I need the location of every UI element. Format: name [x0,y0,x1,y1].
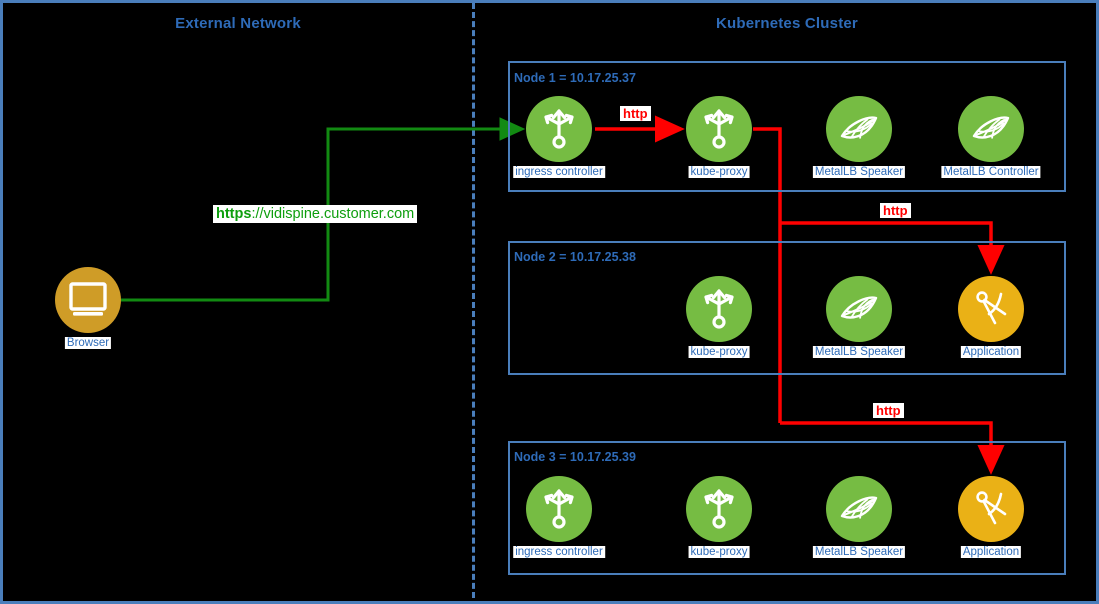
pod-disc [826,96,892,162]
pod-disc [526,476,592,542]
trident-icon [539,487,579,531]
diagram-canvas: External Network Kubernetes Cluster [0,0,1099,604]
pod-label: MetalLB Controller [941,166,1040,178]
pod-metallb-speaker-node3[interactable]: MetalLB Speaker [826,476,892,542]
pod-disc [958,96,1024,162]
monitor-icon [68,282,108,318]
browser-node[interactable]: Browser [55,267,121,333]
trident-icon [539,107,579,151]
pod-kube-proxy-node1[interactable]: kube-proxy [686,96,752,162]
pod-disc [686,276,752,342]
pod-label: kube-proxy [689,546,750,558]
node-2-label: Node 2 = 10.17.25.38 [512,250,638,264]
net-sail-icon [837,109,881,149]
trident-icon [699,107,739,151]
pod-disc [526,96,592,162]
net-sail-icon [837,489,881,529]
compass-icon [971,288,1011,330]
http-label-2: http [880,203,911,218]
pod-application-node2[interactable]: Application [958,276,1024,342]
url-scheme: https [216,206,251,222]
pod-label: kube-proxy [689,166,750,178]
kubernetes-cluster-title: Kubernetes Cluster [475,15,1099,32]
net-sail-icon [837,289,881,329]
network-boundary-divider [472,3,475,604]
pod-ingress-controller-node3[interactable]: ingress controller [526,476,592,542]
pod-disc [686,476,752,542]
https-url-label: https://vidispine.customer.com [213,205,417,223]
pod-disc [958,476,1024,542]
pod-label: kube-proxy [689,346,750,358]
browser-label: Browser [65,337,111,349]
pod-metallb-speaker-node1[interactable]: MetalLB Speaker [826,96,892,162]
pod-metallb-controller-node1[interactable]: MetalLB Controller [958,96,1024,162]
compass-icon [971,488,1011,530]
trident-icon [699,287,739,331]
url-rest: ://vidispine.customer.com [251,206,414,222]
pod-label: ingress controller [513,546,605,558]
pod-kube-proxy-node2[interactable]: kube-proxy [686,276,752,342]
pod-disc [958,276,1024,342]
pod-label: Application [961,546,1021,558]
pod-label: MetalLB Speaker [813,546,905,558]
node-3-label: Node 3 = 10.17.25.39 [512,450,638,464]
pod-application-node3[interactable]: Application [958,476,1024,542]
node-1-label: Node 1 = 10.17.25.37 [512,71,638,85]
pod-disc [826,276,892,342]
browser-disc [55,267,121,333]
pod-metallb-speaker-node2[interactable]: MetalLB Speaker [826,276,892,342]
pod-label: Application [961,346,1021,358]
net-sail-icon [969,109,1013,149]
pod-label: ingress controller [513,166,605,178]
trident-icon [699,487,739,531]
pod-disc [686,96,752,162]
http-label-1: http [620,106,651,121]
pod-label: MetalLB Speaker [813,346,905,358]
http-label-3: http [873,403,904,418]
pod-ingress-controller-node1[interactable]: ingress controller [526,96,592,162]
external-network-title: External Network [3,15,473,32]
pod-disc [826,476,892,542]
pod-label: MetalLB Speaker [813,166,905,178]
pod-kube-proxy-node3[interactable]: kube-proxy [686,476,752,542]
